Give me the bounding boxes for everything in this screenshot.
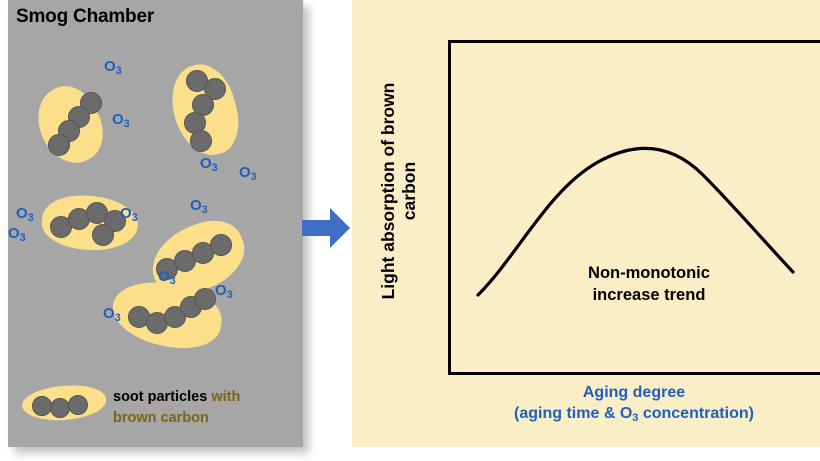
ozone-subscript: 3 xyxy=(227,289,233,301)
ozone-subscript: 3 xyxy=(132,212,138,224)
ozone-subscript: 3 xyxy=(632,412,638,424)
legend-caption-brown-carbon: brown carbon xyxy=(113,410,209,426)
ozone-subscript: 3 xyxy=(251,171,257,183)
ozone-subscript: 3 xyxy=(212,162,218,174)
legend-soot-particle xyxy=(68,395,88,415)
ozone-subscript: 3 xyxy=(28,212,34,224)
smog-chamber-title: Smog Chamber xyxy=(16,6,154,28)
ozone-label-text: O xyxy=(120,205,132,222)
ozone-subscript: 3 xyxy=(20,232,26,244)
process-arrow-icon xyxy=(300,205,352,251)
legend-caption-soot: soot particles xyxy=(113,389,211,405)
legend-caption: soot particles with brown carbon xyxy=(113,387,298,429)
soot-particle xyxy=(190,130,212,152)
ozone-subscript: 3 xyxy=(115,312,121,324)
ozone-label: O3 xyxy=(112,111,130,128)
ozone-label-text: O xyxy=(215,282,227,299)
ozone-label: O3 xyxy=(239,164,257,181)
ozone-subscript: 3 xyxy=(170,275,176,287)
ozone-label-text: O xyxy=(8,225,20,242)
legend-caption-with: with xyxy=(211,389,240,405)
ozone-label: O3 xyxy=(200,155,218,172)
ozone-subscript: 3 xyxy=(124,118,130,130)
ozone-label: O3 xyxy=(103,305,121,322)
y-axis-label: Light absorption of brown carbon xyxy=(378,66,420,316)
x-axis-label: Aging degree (aging time & O3 concentrat… xyxy=(448,382,820,426)
ozone-subscript: 3 xyxy=(202,204,208,216)
figure-canvas: Smog Chamber xyxy=(0,0,820,461)
ozone-label: O3 xyxy=(120,205,138,222)
x-axis-label-line1: Aging degree xyxy=(583,384,685,401)
soot-particle xyxy=(48,134,70,156)
ozone-label-text: O xyxy=(112,111,124,128)
ozone-label-text: O xyxy=(104,58,116,75)
ozone-label-text: O xyxy=(190,197,202,214)
ozone-label: O3 xyxy=(16,205,34,222)
legend-soot-particle xyxy=(32,396,52,416)
absorption-plot-panel: Light absorption of brown carbon Non-mon… xyxy=(352,0,820,447)
trend-annotation-line1: Non-monotonic xyxy=(588,264,710,282)
trend-annotation: Non-monotonic increase trend xyxy=(544,262,754,306)
ozone-label-text: O xyxy=(16,205,28,222)
ozone-label-text: O xyxy=(158,268,170,285)
soot-particle xyxy=(194,288,216,310)
ozone-subscript: 3 xyxy=(116,65,122,77)
ozone-label: O3 xyxy=(104,58,122,75)
ozone-label-text: O xyxy=(200,155,212,172)
smog-chamber-panel: Smog Chamber xyxy=(8,0,303,447)
x-axis-label-line2-post: concentration) xyxy=(638,405,754,422)
soot-particle xyxy=(92,224,114,246)
legend-soot-particle xyxy=(50,398,70,418)
ozone-label: O3 xyxy=(215,282,233,299)
absorption-curve xyxy=(448,40,820,375)
ozone-label: O3 xyxy=(190,197,208,214)
trend-annotation-line2: increase trend xyxy=(593,286,706,304)
ozone-label: O3 xyxy=(8,225,26,242)
ozone-label-text: O xyxy=(239,164,251,181)
x-axis-label-line2-pre: (aging time & O xyxy=(514,405,632,422)
ozone-label-text: O xyxy=(103,305,115,322)
ozone-label: O3 xyxy=(158,268,176,285)
soot-particle xyxy=(210,234,232,256)
